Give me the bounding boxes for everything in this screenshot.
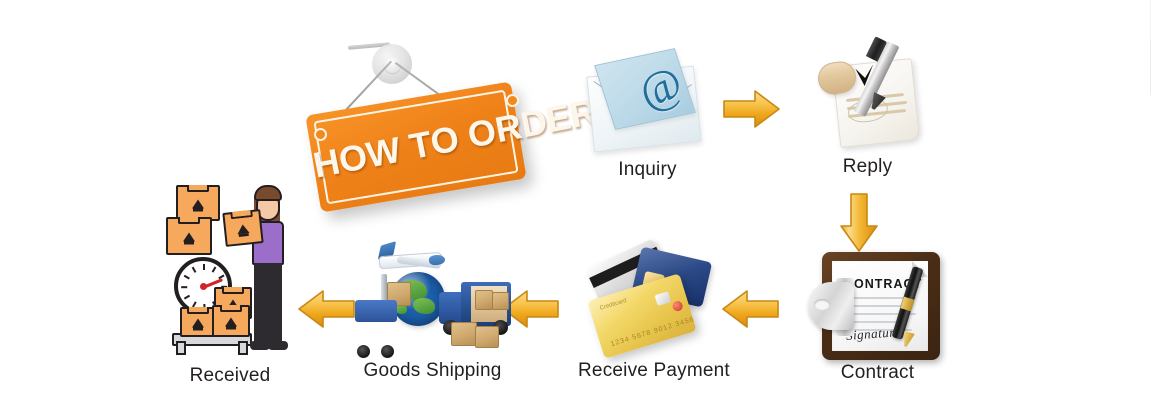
envelope-at-icon: @: [586, 55, 706, 151]
plane-nose: [429, 254, 446, 265]
step-label-reply: Reply: [800, 156, 935, 178]
stacked-box-top: [176, 185, 220, 221]
forklift-body: [355, 300, 397, 322]
scale-foot-left: [176, 341, 186, 355]
card-number: 1234 5678 9012 3456: [610, 316, 695, 348]
ground-crate-1: [451, 322, 477, 346]
arrow-right-icon: [722, 88, 782, 130]
scale-box-right: [212, 305, 250, 337]
how-to-order-diagram: HOW TO ORDER @ Inquiry: [0, 0, 1151, 414]
carried-box: [222, 209, 263, 247]
woman-shoe-right: [268, 341, 288, 350]
step-received[interactable]: Received: [150, 175, 310, 390]
card-logo-dot: [671, 300, 683, 312]
truck-crate-1: [475, 290, 493, 310]
step-label-inquiry: Inquiry: [580, 159, 715, 181]
ground-crate-2: [475, 326, 499, 348]
dial-tick: [212, 266, 217, 272]
step-label-contract: Contract: [790, 362, 965, 384]
arrow-down-icon: [838, 192, 880, 254]
step-receive-payment[interactable]: Creditcard 1234 5678 9012 3456 Receive P…: [578, 248, 718, 388]
step-contract[interactable]: CONTRACT Signature Contract: [790, 252, 965, 387]
woman-boxes-scale-icon: [158, 175, 298, 350]
box-fragile-mark: [237, 223, 250, 233]
clipboard-clamp: [808, 282, 854, 330]
card-brand: Creditcard: [599, 298, 627, 312]
how-to-order-sign: HOW TO ORDER: [300, 36, 540, 236]
scale-box-left: [180, 307, 216, 337]
sign-ring-left: [314, 128, 327, 141]
sign-board: HOW TO ORDER: [305, 82, 526, 213]
forklift-wheel-1: [357, 345, 370, 358]
scroll-pen-check-icon: [814, 48, 924, 153]
arrow-left-icon-1: [720, 288, 780, 330]
credit-cards-icon: Creditcard 1234 5678 9012 3456: [586, 248, 711, 358]
step-label-goods-shipping: Goods Shipping: [345, 360, 520, 382]
step-goods-shipping[interactable]: Goods Shipping: [345, 248, 520, 388]
woman-hair-front: [254, 185, 282, 201]
step-label-receive-payment: Receive Payment: [578, 360, 718, 382]
globe-land-2: [413, 298, 435, 314]
truck-crate-2: [492, 292, 509, 310]
box-fragile-mark: [192, 318, 204, 327]
dial-tick: [184, 294, 190, 299]
sign-ring-right: [506, 94, 519, 107]
clipboard-contract-pen-icon: CONTRACT Signature: [818, 252, 940, 362]
box-fragile-mark: [192, 199, 204, 208]
stacked-box-bottom: [166, 217, 212, 255]
dial-tick: [181, 286, 187, 288]
scale-foot-right: [238, 341, 248, 355]
box-fragile-mark: [225, 317, 237, 326]
dial-tick: [192, 266, 197, 272]
step-reply[interactable]: Reply: [800, 48, 935, 183]
sign-title: HOW TO ORDER: [310, 109, 521, 184]
step-label-received: Received: [150, 365, 310, 387]
forklift-wheel-2: [381, 345, 394, 358]
plane-globe-truck-icon: [353, 248, 513, 358]
dial-tick: [184, 274, 190, 279]
step-inquiry[interactable]: @ Inquiry: [580, 55, 715, 190]
woman-legs: [254, 263, 282, 345]
woman-shoe-left: [250, 341, 270, 350]
scale-needle-hub: [200, 283, 207, 290]
box-fragile-mark: [183, 232, 195, 241]
card-chip: [655, 291, 672, 306]
dial-tick: [203, 264, 205, 270]
